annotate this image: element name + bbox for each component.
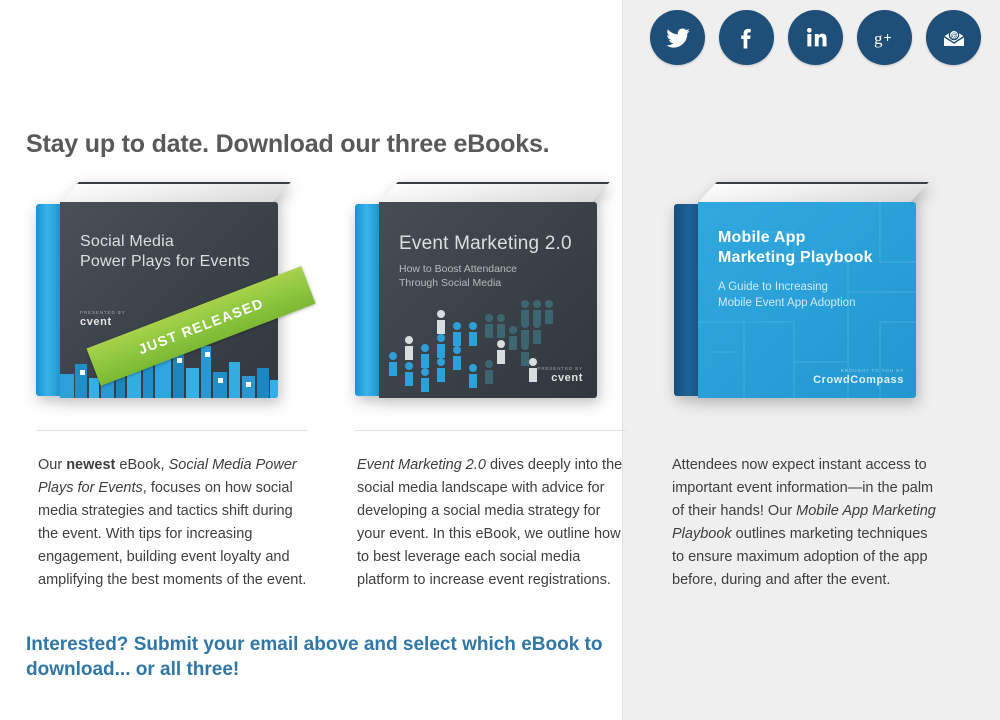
google-plus-icon[interactable]: g + (857, 10, 912, 65)
page-title: Stay up to date. Download our three eBoo… (26, 130, 549, 159)
linkedin-icon[interactable] (788, 10, 843, 65)
crowdcompass-logo: BROUGHT TO YOU BY CrowdCompass (813, 368, 904, 386)
book-cover-2[interactable]: Event Marketing 2.0 How to Boost Attenda… (345, 178, 630, 406)
book-cover-title: Social Media Power Plays for Events (80, 232, 250, 273)
email-promo-page: g + @ Stay up to date. Download our thre… (0, 0, 1000, 720)
book-cover-subtitle: A Guide to Increasing Mobile Event App A… (718, 280, 855, 311)
book-front-cover: Event Marketing 2.0 How to Boost Attenda… (379, 202, 597, 398)
ebook-column-3: Mobile App Marketing Playbook A Guide to… (664, 178, 964, 406)
social-icon-bar: g + @ (650, 10, 981, 65)
book-spine (36, 204, 62, 396)
brand-pretext: PRESENTED BY (537, 366, 583, 371)
book-spine (355, 204, 381, 396)
email-icon[interactable]: @ (926, 10, 981, 65)
twitter-icon[interactable] (650, 10, 705, 65)
svg-text:g: g (874, 29, 883, 48)
column-divider (36, 430, 308, 431)
brand-name: CrowdCompass (813, 374, 904, 386)
svg-text:+: + (883, 29, 891, 45)
book-spine (674, 204, 700, 396)
book-cover-1[interactable]: Social Media Power Plays for Events PRES… (26, 178, 316, 406)
brand-pretext: BROUGHT TO YOU BY (813, 368, 904, 373)
brand-name: cvent (80, 316, 112, 328)
ebook-description-3: Attendees now expect instant access to i… (672, 454, 942, 591)
cvent-logo: PRESENTED BY cvent (537, 366, 583, 384)
facebook-icon[interactable] (719, 10, 774, 65)
cvent-logo: PRESENTED BY cvent (80, 310, 126, 328)
svg-text:@: @ (950, 33, 957, 40)
brand-name: cvent (551, 372, 583, 384)
book-cover-title: Event Marketing 2.0 (399, 232, 572, 256)
ebook-description-1: Our newest eBook, Social Media Power Pla… (38, 454, 310, 591)
cta-link[interactable]: Interested? Submit your email above and … (26, 632, 606, 683)
ebook-column-1: Social Media Power Plays for Events PRES… (26, 178, 316, 406)
ebook-description-2: Event Marketing 2.0 dives deeply into th… (357, 454, 629, 591)
brand-pretext: PRESENTED BY (80, 310, 126, 315)
book-front-cover: Mobile App Marketing Playbook A Guide to… (698, 202, 916, 398)
book-cover-title: Mobile App Marketing Playbook (718, 228, 873, 269)
book-cover-subtitle: How to Boost Attendance Through Social M… (399, 262, 517, 290)
book-cover-3[interactable]: Mobile App Marketing Playbook A Guide to… (664, 178, 964, 406)
column-divider (355, 430, 627, 431)
ebook-column-2: Event Marketing 2.0 How to Boost Attenda… (345, 178, 630, 406)
